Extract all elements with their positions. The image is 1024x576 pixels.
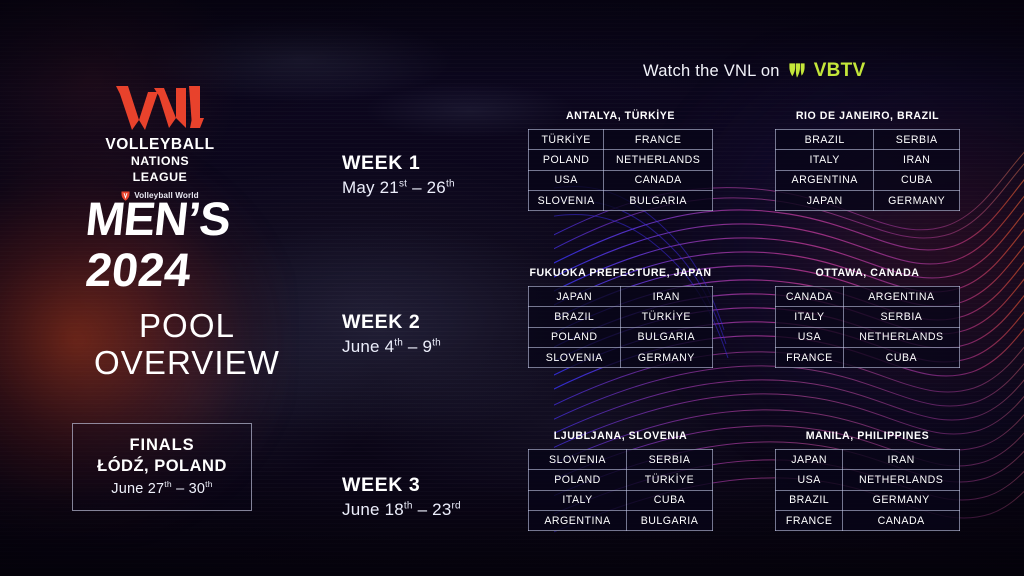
week-2-date-from: June 4 — [342, 337, 394, 356]
week-1-dash: – — [407, 178, 427, 197]
pool-table: JAPANIRAN BRAZILTÜRKİYE POLANDBULGARIA S… — [528, 286, 713, 368]
table-row: ITALYCUBA — [529, 490, 713, 510]
week-2-dates: June 4th – 9th — [342, 337, 441, 357]
pool-table: TÜRKİYEFRANCE POLANDNETHERLANDS USACANAD… — [528, 129, 713, 211]
poster-canvas: VOLLEYBALL NATIONS LEAGUE Volleyball Wor… — [0, 0, 1024, 576]
week-1-date-to: 26 — [427, 178, 446, 197]
team-cell: POLAND — [529, 470, 627, 490]
finals-date-from: June 27 — [111, 481, 164, 497]
table-row: SLOVENIAGERMANY — [529, 347, 713, 367]
pool-venue-title: FUKUOKA PREFECTURE, JAPAN — [528, 267, 713, 279]
team-cell: JAPAN — [776, 190, 874, 210]
vbtv-shield-icon — [787, 61, 807, 81]
pool-table: CANADAARGENTINA ITALYSERBIA USANETHERLAN… — [775, 286, 960, 368]
team-cell: ARGENTINA — [529, 510, 627, 530]
week-2-dash: – — [403, 337, 423, 356]
left-panel: VOLLEYBALL NATIONS LEAGUE Volleyball Wor… — [0, 0, 300, 576]
week-1-date-to-sup: th — [446, 179, 455, 190]
team-cell: FRANCE — [776, 510, 843, 530]
table-row: FRANCECUBA — [776, 347, 960, 367]
pool-venue-title: MANILA, PHILIPPINES — [775, 430, 960, 442]
finals-date-dash: – — [172, 481, 189, 497]
team-cell: ITALY — [529, 490, 627, 510]
team-cell: SERBIA — [627, 450, 713, 470]
week-2-date-to: 9 — [423, 337, 433, 356]
team-cell: CUBA — [843, 347, 959, 367]
team-cell: CANADA — [843, 510, 960, 530]
table-row: ARGENTINACUBA — [776, 170, 960, 190]
team-cell: JAPAN — [776, 450, 843, 470]
title-line-overview: OVERVIEW — [78, 345, 296, 382]
pool-week3-ljubljana: LJUBLJANA, SLOVENIA SLOVENIASERBIA POLAN… — [528, 430, 713, 531]
table-row: SLOVENIASERBIA — [529, 450, 713, 470]
team-cell: GERMANY — [874, 190, 960, 210]
week-label-2: WEEK 2 June 4th – 9th — [342, 311, 441, 357]
team-cell: SLOVENIA — [529, 190, 604, 210]
team-cell: SERBIA — [843, 307, 959, 327]
team-cell: USA — [776, 327, 844, 347]
vbtv-wordmark: VBTV — [814, 60, 866, 82]
week-1-dates: May 21st – 26th — [342, 178, 455, 198]
pool-week1-antalya: ANTALYA, TÜRKİYE TÜRKİYEFRANCE POLANDNET… — [528, 110, 713, 211]
team-cell: USA — [529, 170, 604, 190]
team-cell: ARGENTINA — [776, 170, 874, 190]
pool-week2-fukuoka: FUKUOKA PREFECTURE, JAPAN JAPANIRAN BRAZ… — [528, 267, 713, 368]
week-1-date-from: May 21 — [342, 178, 399, 197]
table-row: USACANADA — [529, 170, 713, 190]
week-label-1: WEEK 1 May 21st – 26th — [342, 152, 455, 198]
vnl-monogram-icon — [114, 84, 206, 132]
pool-table: JAPANIRAN USANETHERLANDS BRAZILGERMANY F… — [775, 449, 960, 531]
team-cell: BRAZIL — [776, 490, 843, 510]
week-1-name: WEEK 1 — [342, 152, 455, 174]
team-cell: CUBA — [627, 490, 713, 510]
week-3-date-from-sup: th — [404, 501, 413, 512]
table-row: JAPANIRAN — [776, 450, 960, 470]
team-cell: IRAN — [620, 287, 712, 307]
team-cell: CUBA — [874, 170, 960, 190]
team-cell: IRAN — [874, 150, 960, 170]
team-cell: POLAND — [529, 150, 604, 170]
team-cell: FRANCE — [776, 347, 844, 367]
vnl-logo: VOLLEYBALL NATIONS LEAGUE Volleyball Wor… — [102, 84, 218, 201]
pool-venue-title: OTTAWA, CANADA — [775, 267, 960, 279]
team-cell: JAPAN — [529, 287, 621, 307]
table-row: ARGENTINABULGARIA — [529, 510, 713, 530]
team-cell: CANADA — [604, 170, 713, 190]
team-cell: SLOVENIA — [529, 450, 627, 470]
team-cell: BULGARIA — [620, 327, 712, 347]
finals-dates: June 27th – 30th — [79, 479, 245, 497]
table-row: USANETHERLANDS — [776, 470, 960, 490]
week-3-date-to: 23 — [432, 500, 451, 519]
team-cell: ITALY — [776, 150, 874, 170]
table-row: FRANCECANADA — [776, 510, 960, 530]
table-row: ITALYSERBIA — [776, 307, 960, 327]
pool-venue-title: LJUBLJANA, SLOVENIA — [528, 430, 713, 442]
week-2-date-to-sup: th — [432, 338, 441, 349]
team-cell: ARGENTINA — [843, 287, 959, 307]
week-3-name: WEEK 3 — [342, 474, 461, 496]
table-row: POLANDBULGARIA — [529, 327, 713, 347]
title-line-mens: MEN’S — [84, 196, 299, 242]
pool-week2-ottawa: OTTAWA, CANADA CANADAARGENTINA ITALYSERB… — [775, 267, 960, 368]
pool-table: SLOVENIASERBIA POLANDTÜRKİYE ITALYCUBA A… — [528, 449, 713, 531]
title-line-year: 2024 — [83, 246, 298, 294]
page-title: MEN’S 2024 POOL OVERVIEW — [86, 196, 296, 382]
pool-week3-manila: MANILA, PHILIPPINES JAPANIRAN USANETHERL… — [775, 430, 960, 531]
team-cell: FRANCE — [604, 130, 713, 150]
team-cell: TÜRKİYE — [627, 470, 713, 490]
team-cell: NETHERLANDS — [843, 470, 960, 490]
finals-heading: FINALS — [79, 436, 245, 456]
team-cell: IRAN — [843, 450, 960, 470]
table-row: JAPANIRAN — [529, 287, 713, 307]
week-3-date-from: June 18 — [342, 500, 404, 519]
week-3-date-to-sup: rd — [451, 501, 460, 512]
pool-table: BRAZILSERBIA ITALYIRAN ARGENTINACUBA JAP… — [775, 129, 960, 211]
broadcast-callout[interactable]: Watch the VNL on VBTV — [643, 60, 866, 82]
pool-week1-rio: RIO DE JANEIRO, BRAZIL BRAZILSERBIA ITAL… — [775, 110, 960, 211]
team-cell: BULGARIA — [627, 510, 713, 530]
table-row: POLANDTÜRKİYE — [529, 470, 713, 490]
table-row: ITALYIRAN — [776, 150, 960, 170]
title-line-pool: POOL — [78, 308, 296, 345]
team-cell: TÜRKİYE — [620, 307, 712, 327]
week-label-3: WEEK 3 June 18th – 23rd — [342, 474, 461, 520]
finals-date-to-sup: th — [205, 479, 213, 489]
week-2-date-from-sup: th — [394, 338, 403, 349]
table-row: JAPANGERMANY — [776, 190, 960, 210]
table-row: BRAZILTÜRKİYE — [529, 307, 713, 327]
table-row: BRAZILSERBIA — [776, 130, 960, 150]
finals-venue: ŁÓDŹ, POLAND — [79, 456, 245, 477]
week-3-dates: June 18th – 23rd — [342, 500, 461, 520]
week-2-name: WEEK 2 — [342, 311, 441, 333]
week-3-dash: – — [413, 500, 433, 519]
table-row: POLANDNETHERLANDS — [529, 150, 713, 170]
vnl-logo-line2: NATIONS LEAGUE — [102, 153, 218, 185]
team-cell: GERMANY — [843, 490, 960, 510]
team-cell: POLAND — [529, 327, 621, 347]
pool-venue-title: ANTALYA, TÜRKİYE — [528, 110, 713, 122]
pool-venue-title: RIO DE JANEIRO, BRAZIL — [775, 110, 960, 122]
team-cell: TÜRKİYE — [529, 130, 604, 150]
table-row: BRAZILGERMANY — [776, 490, 960, 510]
finals-date-to: 30 — [189, 481, 206, 497]
team-cell: NETHERLANDS — [604, 150, 713, 170]
table-row: SLOVENIABULGARIA — [529, 190, 713, 210]
team-cell: CANADA — [776, 287, 844, 307]
vnl-logo-line1: VOLLEYBALL — [102, 137, 218, 153]
team-cell: SERBIA — [874, 130, 960, 150]
team-cell: ITALY — [776, 307, 844, 327]
team-cell: NETHERLANDS — [843, 327, 959, 347]
table-row: TÜRKİYEFRANCE — [529, 130, 713, 150]
finals-date-from-sup: th — [164, 479, 172, 489]
finals-box: FINALS ŁÓDŹ, POLAND June 27th – 30th — [72, 423, 252, 511]
week-1-date-from-sup: st — [399, 179, 407, 190]
table-row: CANADAARGENTINA — [776, 287, 960, 307]
team-cell: USA — [776, 470, 843, 490]
team-cell: BRAZIL — [776, 130, 874, 150]
table-row: USANETHERLANDS — [776, 327, 960, 347]
broadcast-text: Watch the VNL on — [643, 62, 780, 81]
team-cell: BRAZIL — [529, 307, 621, 327]
team-cell: SLOVENIA — [529, 347, 621, 367]
team-cell: GERMANY — [620, 347, 712, 367]
team-cell: BULGARIA — [604, 190, 713, 210]
